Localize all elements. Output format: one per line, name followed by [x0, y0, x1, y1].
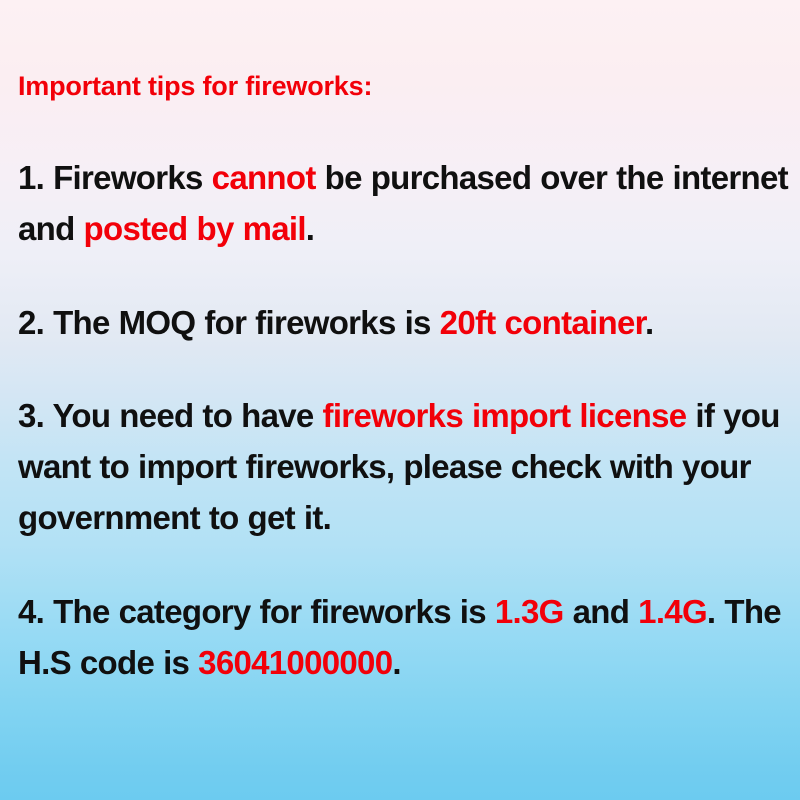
- tip-3-segment-1: You need to have: [53, 397, 323, 434]
- tip-2-emphasis-moq: 20ft container: [440, 304, 645, 341]
- tip-4-emphasis-class-13g: 1.3G: [495, 593, 564, 630]
- tip-4-emphasis-class-14g: 1.4G: [638, 593, 707, 630]
- fireworks-notice-card: Important tips for fireworks: 1. Firewor…: [0, 0, 800, 800]
- tip-item-1: 1. Fireworks cannot be purchased over th…: [18, 152, 792, 254]
- page-title: Important tips for fireworks:: [18, 72, 792, 102]
- tip-1-segment-3: .: [306, 210, 314, 247]
- tip-1-number: 1.: [18, 159, 44, 196]
- tip-item-4: 4. The category for fireworks is 1.3G an…: [18, 586, 792, 688]
- tip-item-3: 3. You need to have fireworks import lic…: [18, 390, 792, 543]
- tip-1-emphasis-posted-by-mail: posted by mail: [84, 210, 306, 247]
- tip-1-emphasis-cannot: cannot: [212, 159, 316, 196]
- tip-4-emphasis-hs-code: 36041000000: [198, 644, 392, 681]
- tip-4-number: 4.: [18, 593, 44, 630]
- tip-item-2: 2. The MOQ for fireworks is 20ft contain…: [18, 297, 792, 348]
- notice-heading-row: Important tips for fireworks:: [18, 72, 792, 102]
- tip-3-number: 3.: [18, 397, 44, 434]
- tip-2-segment-2: .: [645, 304, 653, 341]
- tip-2-segment-1: The MOQ for fireworks is: [53, 304, 440, 341]
- tip-4-segment-4: .: [392, 644, 400, 681]
- tip-2-number: 2.: [18, 304, 44, 341]
- tip-1-segment-1: Fireworks: [53, 159, 212, 196]
- tip-4-segment-2: and: [564, 593, 639, 630]
- tip-3-emphasis-import-license: fireworks import license: [323, 397, 687, 434]
- tip-4-segment-1: The category for fireworks is: [53, 593, 495, 630]
